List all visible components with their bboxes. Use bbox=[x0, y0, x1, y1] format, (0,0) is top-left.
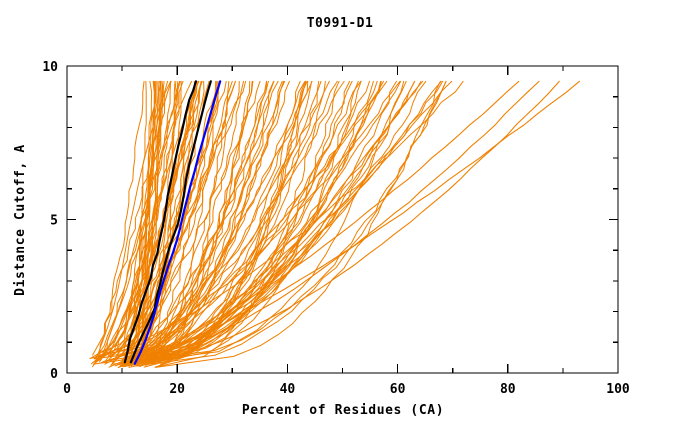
axis-tick-label: 5 bbox=[50, 214, 58, 229]
curves-layer bbox=[90, 81, 580, 367]
prediction-curve bbox=[139, 81, 361, 362]
axis-tick-label: 100 bbox=[606, 382, 630, 397]
y-axis-title: Distance Cutoff, A bbox=[13, 144, 28, 296]
axis-tick-label: 10 bbox=[42, 60, 58, 75]
axis-tick-label: 40 bbox=[280, 382, 296, 397]
axis-tick-label: 80 bbox=[500, 382, 516, 397]
x-axis-title: Percent of Residues (CA) bbox=[242, 403, 444, 418]
axis-tick-label: 0 bbox=[63, 382, 71, 397]
axis-tick-label: 20 bbox=[169, 382, 185, 397]
chart-page: T0991-D1 0204060801000510 Percent of Res… bbox=[0, 0, 680, 440]
plot-canvas: 0204060801000510 Percent of Residues (CA… bbox=[0, 0, 680, 440]
axis-tick-label: 60 bbox=[390, 382, 406, 397]
axis-tick-label: 0 bbox=[50, 367, 58, 382]
